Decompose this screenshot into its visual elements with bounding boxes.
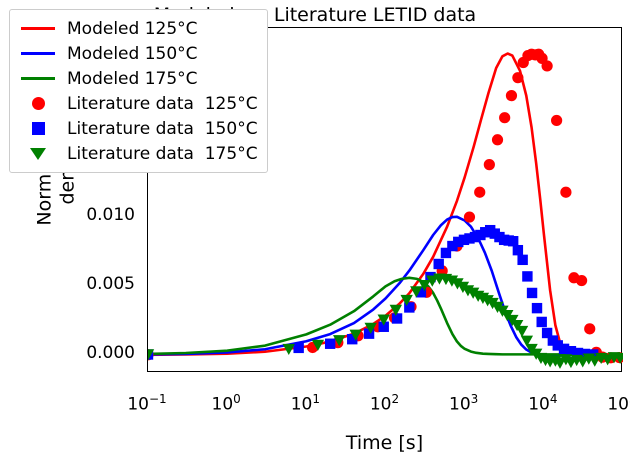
data-point bbox=[434, 259, 444, 269]
legend-label: Literature data 150°C bbox=[58, 119, 258, 139]
legend-entry-6[interactable]: Literature data 175°C bbox=[18, 141, 258, 166]
data-point bbox=[551, 115, 562, 126]
legend-label: Modeled 175°C bbox=[58, 69, 198, 89]
x-tick-label-4: 103 bbox=[431, 392, 497, 415]
x-axis-label: Time [s] bbox=[147, 432, 622, 454]
x-tick-exponent: 0 bbox=[233, 392, 241, 406]
x-tick-exponent: 4 bbox=[550, 392, 558, 406]
x-tick-mantissa: 10 bbox=[127, 395, 149, 415]
data-point bbox=[560, 187, 571, 198]
y-tick-label-0: 0.000 bbox=[57, 343, 135, 363]
data-point bbox=[508, 236, 518, 246]
data-point bbox=[512, 72, 523, 83]
legend-line-swatch bbox=[21, 27, 55, 30]
x-tick-mantissa: 10 bbox=[370, 395, 392, 415]
data-point bbox=[537, 317, 547, 327]
x-tick-mantissa: 10 bbox=[212, 395, 234, 415]
data-point bbox=[492, 134, 503, 145]
x-tick-exponent: 3 bbox=[471, 392, 479, 406]
data-point bbox=[293, 343, 303, 353]
legend-key-line bbox=[18, 69, 58, 89]
legend-key-square bbox=[18, 119, 58, 139]
y-tick-label-2: 0.010 bbox=[57, 205, 135, 225]
figure: Modeled vs. Literature LETID data Normal… bbox=[0, 0, 630, 470]
legend-label: Modeled 125°C bbox=[58, 19, 198, 39]
x-tick-mantissa: 10 bbox=[528, 395, 550, 415]
data-point bbox=[584, 323, 595, 334]
legend-key-line bbox=[18, 19, 58, 39]
data-point bbox=[576, 275, 587, 286]
legend-entry-2[interactable]: Modeled 150°C bbox=[18, 41, 258, 66]
legend-entry-3[interactable]: Modeled 175°C bbox=[18, 66, 258, 91]
x-tick-exponent: −1 bbox=[149, 392, 167, 406]
legend-key-triangle bbox=[18, 144, 58, 164]
data-point bbox=[527, 288, 537, 298]
data-point bbox=[484, 159, 495, 170]
data-point bbox=[522, 271, 532, 281]
x-tick-label-0: 10−1 bbox=[114, 392, 180, 415]
legend-key-circle bbox=[18, 94, 58, 114]
data-point bbox=[516, 326, 528, 337]
legend-label: Literature data 175°C bbox=[58, 144, 258, 164]
x-tick-label-1: 100 bbox=[193, 392, 259, 415]
data-point bbox=[499, 112, 510, 123]
legend-entry-5[interactable]: Literature data 150°C bbox=[18, 116, 258, 141]
y-tick-label-1: 0.005 bbox=[57, 274, 135, 294]
legend-label: Modeled 150°C bbox=[58, 44, 198, 64]
x-tick-mantissa: 10 bbox=[607, 395, 629, 415]
x-tick-mantissa: 10 bbox=[291, 395, 313, 415]
legend-entry-1[interactable]: Modeled 125°C bbox=[18, 16, 258, 41]
x-tick-label-2: 101 bbox=[272, 392, 338, 415]
data-point bbox=[464, 211, 475, 222]
data-point bbox=[474, 187, 485, 198]
legend: Modeled 125°CModeled 150°CModeled 175°CL… bbox=[9, 9, 268, 173]
legend-line-swatch bbox=[21, 52, 55, 55]
square-marker-icon bbox=[32, 122, 45, 135]
data-point bbox=[506, 90, 517, 101]
triangle-down-marker-icon bbox=[30, 148, 46, 160]
data-point bbox=[392, 313, 402, 323]
legend-entry-4[interactable]: Literature data 125°C bbox=[18, 91, 258, 116]
data-point bbox=[325, 339, 335, 349]
legend-label: Literature data 125°C bbox=[58, 94, 258, 114]
x-tick-exponent: 2 bbox=[392, 392, 400, 406]
x-tick-exponent: 1 bbox=[312, 392, 320, 406]
legend-key-line bbox=[18, 44, 58, 64]
x-tick-label-3: 102 bbox=[352, 392, 418, 415]
x-tick-label-5: 104 bbox=[510, 392, 576, 415]
data-point bbox=[517, 255, 527, 265]
circle-marker-icon bbox=[32, 97, 45, 110]
data-point bbox=[532, 303, 542, 313]
x-tick-label-6: 105 bbox=[589, 392, 630, 415]
legend-line-swatch bbox=[21, 77, 55, 80]
x-tick-mantissa: 10 bbox=[449, 395, 471, 415]
data-point bbox=[542, 60, 553, 71]
data-point bbox=[513, 245, 523, 255]
